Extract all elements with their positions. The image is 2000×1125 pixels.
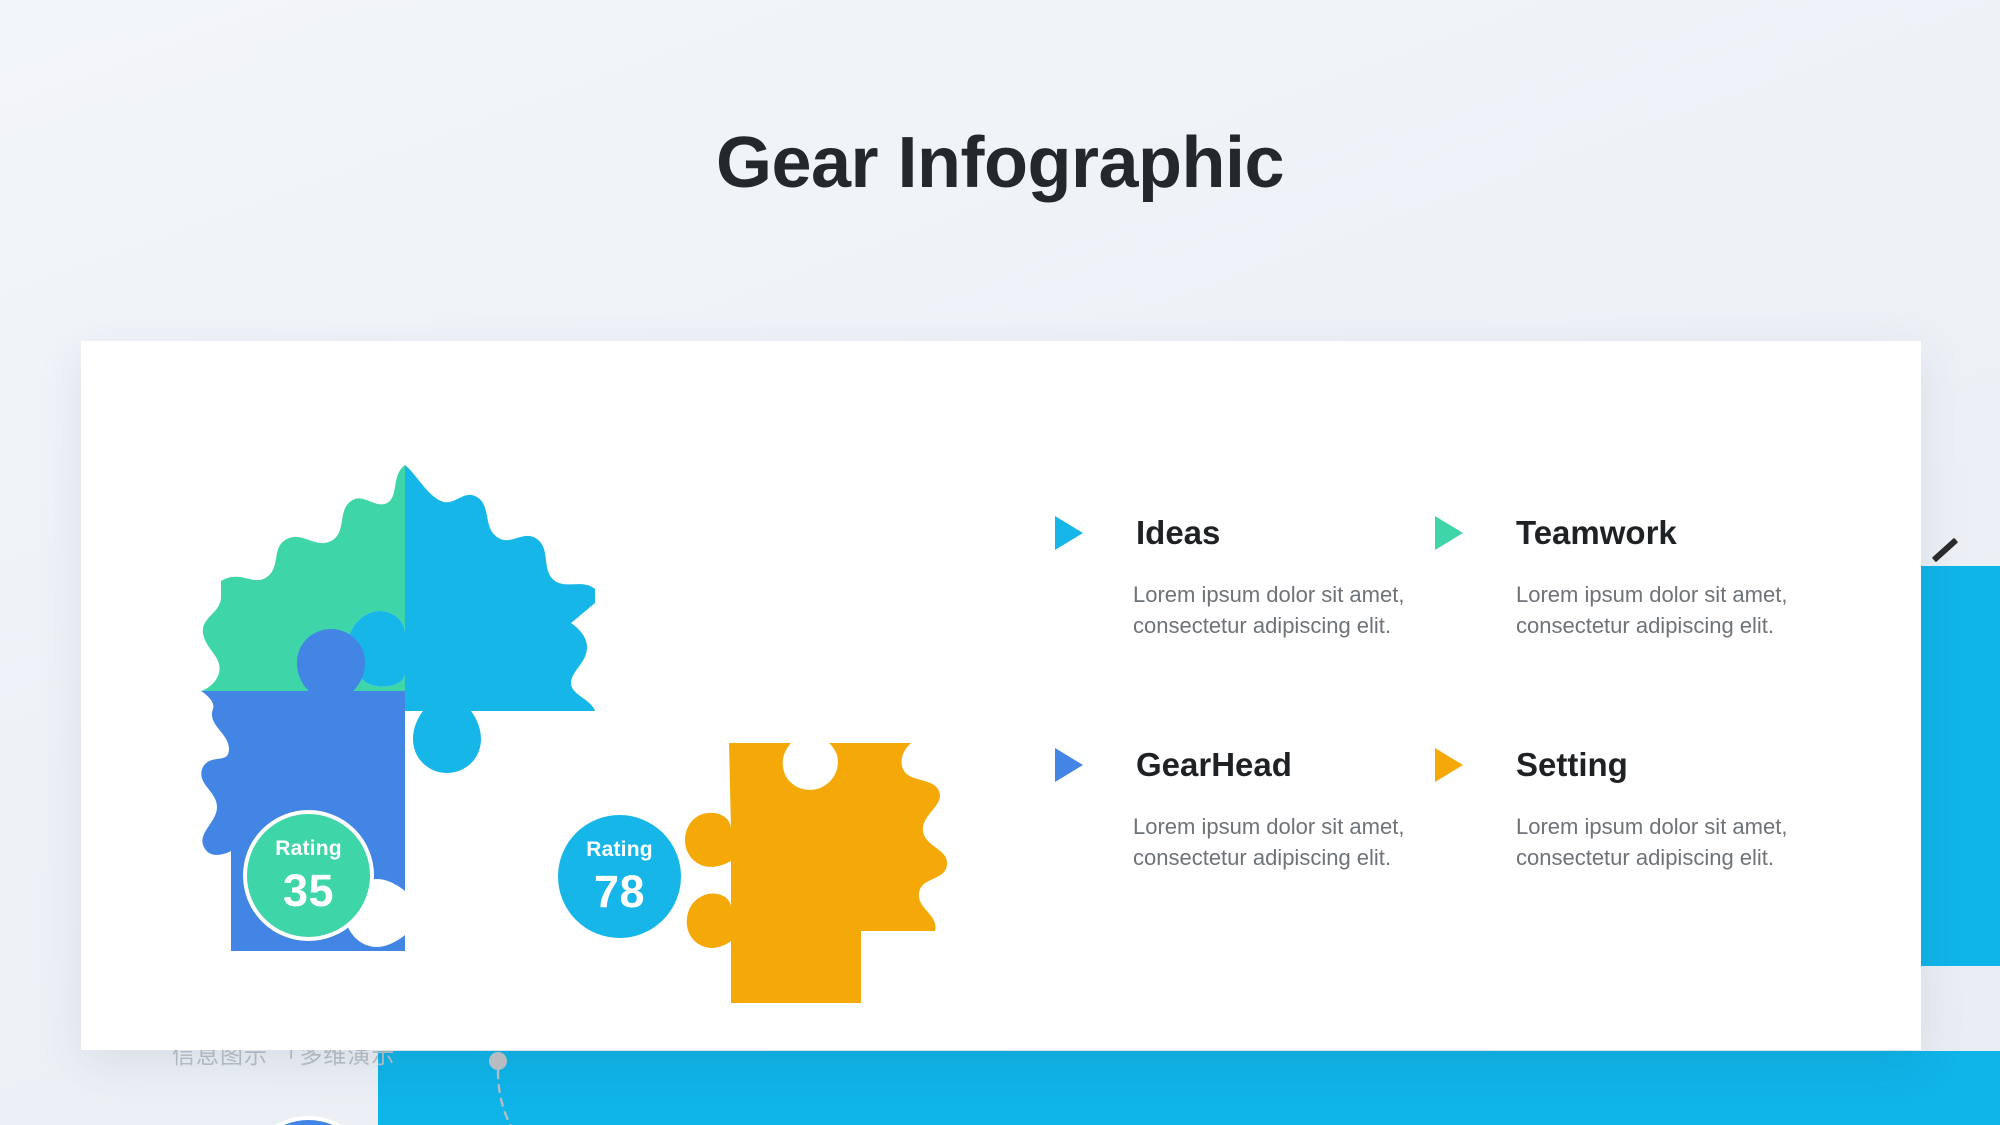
feature-body: Lorem ipsum dolor sit amet, consectetur … — [1516, 811, 1856, 873]
rating-badge-value: 35 — [283, 868, 334, 913]
feature-title: GearHead — [1136, 746, 1292, 784]
feature-item-teamwork[interactable]: Teamwork Lorem ipsum dolor sit amet, con… — [1435, 511, 1855, 641]
feature-item-ideas[interactable]: Ideas Lorem ipsum dolor sit amet, consec… — [1055, 511, 1475, 641]
right-edge-accent-block — [1916, 566, 2000, 966]
rating-badge-label: Rating — [275, 838, 342, 859]
feature-header: Teamwork — [1435, 511, 1855, 555]
bottom-accent-bar — [378, 1051, 2000, 1125]
feature-item-setting[interactable]: Setting Lorem ipsum dolor sit amet, cons… — [1435, 743, 1855, 873]
play-triangle-icon — [1055, 748, 1083, 782]
rating-badge-green[interactable]: Rating 35 — [243, 810, 374, 941]
pen-stroke-mark-icon — [1932, 538, 1958, 563]
rating-badge-label: Rating — [586, 839, 653, 860]
slide-canvas: Gear Infographic 信息图示 「多维演示 — [0, 0, 2000, 1125]
feature-body: Lorem ipsum dolor sit amet, consectetur … — [1516, 579, 1856, 641]
rating-badge-blue[interactable]: Rating 68 — [243, 1116, 374, 1125]
play-triangle-icon — [1435, 748, 1463, 782]
feature-title: Setting — [1516, 746, 1628, 784]
puzzle-piece-orange — [685, 743, 947, 1003]
rating-badge-cyan[interactable]: Rating 78 — [554, 811, 685, 942]
play-triangle-icon — [1055, 516, 1083, 550]
feature-title: Teamwork — [1516, 514, 1677, 552]
feature-item-gearhead[interactable]: GearHead Lorem ipsum dolor sit amet, con… — [1055, 743, 1475, 873]
feature-header: Setting — [1435, 743, 1855, 787]
content-card: Rating 35 Rating 78 Rating 68 Rating 46 … — [81, 341, 1921, 1050]
feature-title: Ideas — [1136, 514, 1220, 552]
feature-body: Lorem ipsum dolor sit amet, consectetur … — [1133, 579, 1473, 641]
feature-list: Ideas Lorem ipsum dolor sit amet, consec… — [971, 511, 1891, 941]
page-title: Gear Infographic — [0, 122, 2000, 204]
rating-badge-value: 78 — [594, 869, 645, 914]
feature-body: Lorem ipsum dolor sit amet, consectetur … — [1133, 811, 1473, 873]
play-triangle-icon — [1435, 516, 1463, 550]
feature-header: Ideas — [1055, 511, 1475, 555]
feature-header: GearHead — [1055, 743, 1475, 787]
